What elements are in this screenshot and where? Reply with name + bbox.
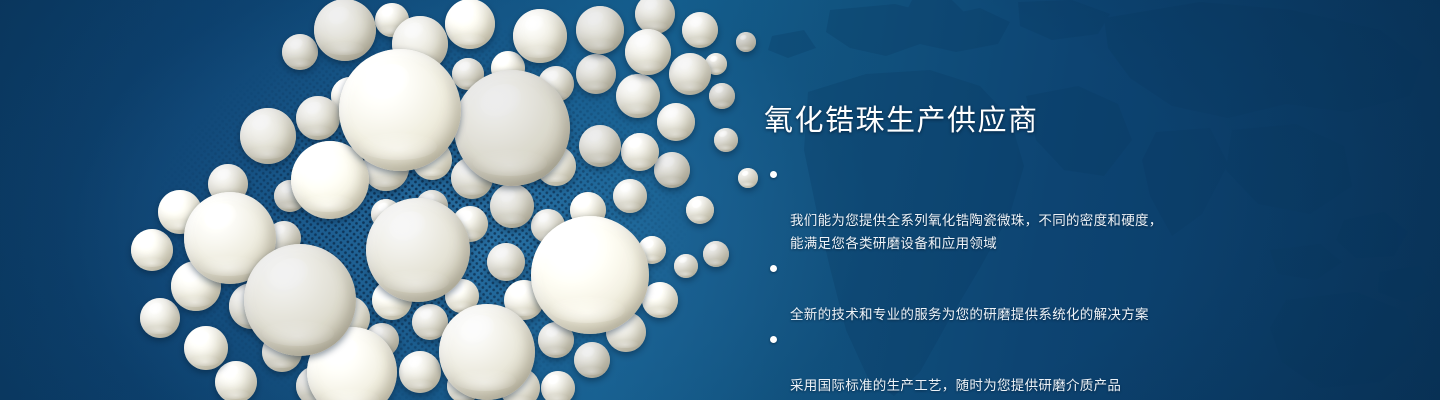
- zirconia-bead: [541, 371, 575, 400]
- zirconia-beads-image: [0, 0, 780, 400]
- zirconia-bead: [140, 298, 180, 338]
- zirconia-bead: [184, 326, 228, 370]
- zirconia-bead: [454, 70, 570, 186]
- list-item-label: 我们能为您提供全系列氧化锆陶瓷微珠，不同的密度和硬度， 能满足您各类研磨设备和应…: [790, 213, 1163, 251]
- zirconia-bead: [682, 12, 718, 48]
- zirconia-bead: [531, 216, 649, 334]
- zirconia-bead: [714, 128, 738, 152]
- list-item: 我们能为您提供全系列氧化锆陶瓷微珠，不同的密度和硬度， 能满足您各类研磨设备和应…: [764, 163, 1384, 255]
- zirconia-bead: [736, 32, 756, 52]
- zirconia-bead: [616, 74, 660, 118]
- zirconia-bead: [674, 254, 698, 278]
- zirconia-bead: [296, 96, 340, 140]
- list-item-label: 全新的技术和专业的服务为您的研磨提供系统化的解决方案: [790, 307, 1149, 322]
- banner-copy: 氧化锆珠生产供应商 我们能为您提供全系列氧化锆陶瓷微珠，不同的密度和硬度， 能满…: [764, 104, 1384, 399]
- zirconia-bead: [131, 229, 173, 271]
- zirconia-bead: [669, 53, 711, 95]
- zirconia-bead: [490, 184, 534, 228]
- zirconia-bead: [574, 342, 610, 378]
- list-item: 采用国际标准的生产工艺，随时为您提供研磨介质产品: [764, 328, 1384, 397]
- zirconia-bead: [621, 133, 659, 171]
- zirconia-bead: [576, 6, 624, 54]
- zirconia-bead: [314, 0, 376, 61]
- zirconia-bead: [282, 34, 318, 70]
- list-item: 全新的技术和专业的服务为您的研磨提供系统化的解决方案: [764, 257, 1384, 326]
- zirconia-bead: [613, 179, 647, 213]
- zirconia-bead: [654, 152, 690, 188]
- bullet-dot-icon: [770, 265, 777, 272]
- zirconia-bead: [709, 83, 735, 109]
- zirconia-bead: [244, 244, 356, 356]
- bullet-dot-icon: [770, 171, 777, 178]
- feature-list: 我们能为您提供全系列氧化锆陶瓷微珠，不同的密度和硬度， 能满足您各类研磨设备和应…: [764, 163, 1384, 397]
- zirconia-bead: [366, 198, 470, 302]
- zirconia-bead: [738, 168, 758, 188]
- zirconia-bead: [487, 243, 525, 281]
- zirconia-bead: [513, 9, 567, 63]
- zirconia-bead: [215, 361, 257, 400]
- zirconia-bead: [445, 0, 495, 49]
- zirconia-bead: [399, 351, 441, 393]
- zirconia-bead: [625, 29, 671, 75]
- zirconia-bead: [657, 103, 695, 141]
- zirconia-bead: [339, 49, 461, 171]
- zirconia-bead: [579, 125, 621, 167]
- bullet-dot-icon: [770, 336, 777, 343]
- zirconia-bead: [703, 241, 729, 267]
- zirconia-bead: [576, 54, 616, 94]
- zirconia-bead: [439, 304, 535, 400]
- page-title: 氧化锆珠生产供应商: [764, 104, 1384, 138]
- zirconia-bead: [240, 108, 296, 164]
- hero-banner: 氧化锆珠生产供应商 我们能为您提供全系列氧化锆陶瓷微珠，不同的密度和硬度， 能满…: [0, 0, 1440, 400]
- list-item-label: 采用国际标准的生产工艺，随时为您提供研磨介质产品: [790, 378, 1121, 393]
- zirconia-bead: [686, 196, 714, 224]
